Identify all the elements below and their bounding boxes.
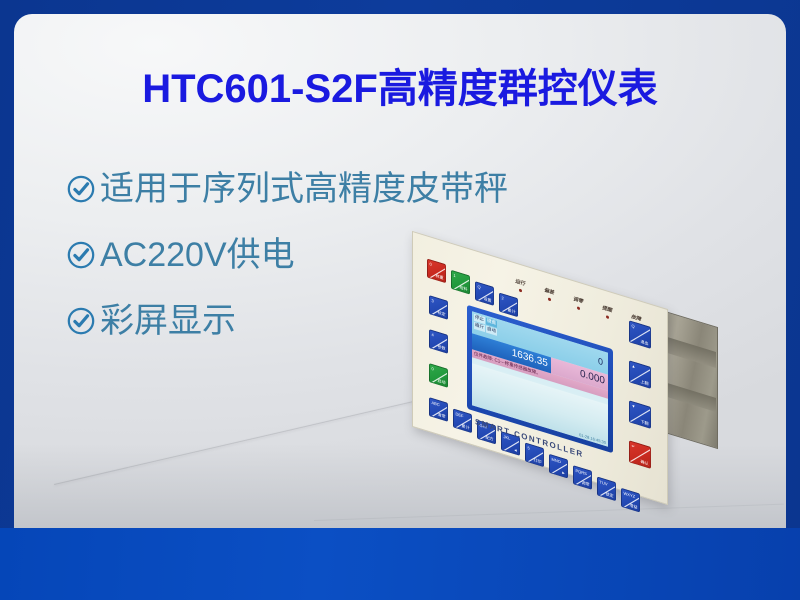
led-label: 调零 — [569, 296, 587, 307]
key-label-bottom: ◄ — [514, 447, 518, 452]
list-item: 适用于序列式高精度皮带秤 — [66, 156, 626, 222]
check-circle-icon — [66, 240, 96, 270]
key-label-bottom: 打印 — [534, 458, 542, 464]
product-poster: HTC601-S2F高精度群控仪表 适用于序列式高精度皮带秤 AC220V供电 — [0, 0, 800, 600]
key-label-bottom: 退出 — [641, 339, 649, 345]
key-label-bottom: 下翻 — [641, 419, 649, 425]
lcd-footer-timestamp: 01-28 16:45:30 — [579, 432, 606, 445]
keypad-key-lock[interactable]: TUV 锁定 — [597, 476, 616, 501]
content-panel: HTC601-S2F高精度群控仪表 适用于序列式高精度皮带秤 AC220V供电 — [14, 14, 786, 528]
check-circle-icon — [66, 174, 96, 204]
feature-text: 适用于序列式高精度皮带秤 — [100, 172, 508, 206]
key-label-bottom: 设置 — [484, 296, 492, 302]
feature-text: 彩屏显示 — [100, 304, 236, 338]
key-label-top: TUV — [600, 480, 608, 486]
keypad-key-weigh[interactable]: 0 称重 — [427, 258, 446, 283]
key-label-top: ▼ — [632, 403, 636, 408]
key-label-top: PQRS — [576, 468, 587, 475]
led-dot — [548, 297, 551, 301]
led-label: 偏差 — [540, 287, 558, 298]
key-label-top: 5 — [528, 446, 530, 451]
keypad-key-accum[interactable]: DEF 累计 — [453, 408, 472, 433]
keypad-key-page-up[interactable]: ▲ 上翻 — [629, 360, 651, 389]
key-label-bottom: 称重 — [436, 274, 444, 280]
page-title: HTC601-S2F高精度群控仪表 — [14, 56, 786, 114]
controller-device: 运行 偏差 调零 提醒 — [406, 266, 706, 506]
key-label-top: ▲ — [632, 363, 636, 368]
led-indicator: 调零 — [569, 296, 587, 313]
key-label-bottom: 清零 — [438, 412, 446, 418]
keypad-key-exit[interactable]: Q 退出 — [629, 320, 651, 349]
key-label-top: DEF — [456, 412, 464, 418]
key-label-top: Q — [632, 323, 635, 328]
keypad-key-confirm[interactable]: ↵ 确认 — [629, 440, 651, 469]
keypad-key-zero[interactable]: ABC 清零 — [429, 397, 448, 422]
key-label-bottom: 确认 — [641, 459, 649, 465]
key-label-bottom: 标定 — [438, 310, 446, 316]
key-label-bottom: ► — [562, 470, 566, 475]
keypad-key-right[interactable]: MNO ► — [549, 454, 568, 479]
led-label: 运行 — [511, 278, 529, 289]
keypad-key-total[interactable]: 2 累计 — [499, 292, 518, 317]
key-label-bottom: 配方 — [486, 435, 494, 441]
keypad-key-params[interactable]: 4 参数 — [429, 329, 448, 354]
led-dot — [577, 306, 580, 310]
led-dot — [606, 315, 609, 319]
bottom-blue-band — [0, 528, 800, 600]
key-label-bottom: 给料 — [460, 285, 468, 291]
check-circle-icon — [66, 306, 96, 336]
led-indicator: 提醒 — [598, 305, 616, 322]
key-label-bottom: 增益 — [630, 503, 638, 509]
key-label-bottom: 累计 — [508, 308, 516, 314]
led-indicator: 运行 — [511, 278, 529, 295]
key-label-bottom: 累计 — [462, 424, 470, 430]
led-indicator-row: 运行 偏差 调零 提醒 — [511, 278, 645, 330]
key-label-bottom: 上翻 — [641, 379, 649, 385]
key-label-top: 0 — [432, 366, 434, 371]
lcd-top-right-value: 0 — [598, 357, 603, 368]
key-label-top: ABC — [432, 400, 440, 407]
key-label-bottom: 启动 — [438, 378, 446, 384]
key-label-top: ↵ — [632, 443, 635, 448]
key-label-top: 3 — [432, 298, 434, 303]
keypad-key-page-down[interactable]: ▼ 下翻 — [629, 400, 651, 429]
key-label-top: 0 — [430, 262, 432, 267]
keypad-key-feed[interactable]: 1 给料 — [451, 270, 470, 295]
key-label-top: WXYZ — [624, 491, 636, 499]
led-label: 提醒 — [598, 305, 616, 316]
feature-text: AC220V供电 — [100, 238, 295, 272]
keypad-key-tare[interactable]: PQRS 调零 — [573, 465, 592, 490]
key-label-bottom: 参数 — [438, 344, 446, 350]
keypad-key-calibrate[interactable]: 3 标定 — [429, 295, 448, 320]
led-dot — [519, 288, 522, 292]
key-label-bottom: 锁定 — [606, 492, 614, 498]
key-label-top: 1 — [454, 273, 456, 278]
keypad-key-start[interactable]: 0 启动 — [429, 363, 448, 388]
keypad-key-setup[interactable]: Q 设置 — [475, 281, 494, 306]
key-label-bottom: 调零 — [582, 480, 590, 486]
led-indicator: 偏差 — [540, 287, 558, 304]
device-faceplate: 运行 偏差 调零 提醒 — [412, 231, 668, 505]
key-label-top: Q — [478, 284, 481, 289]
key-label-top: MNO — [552, 457, 561, 464]
key-label-top: 2 — [502, 296, 504, 301]
lcd-status-grid: 停止 键盘 峰斤 自动 — [474, 314, 497, 336]
key-label-top: 4 — [432, 332, 434, 337]
